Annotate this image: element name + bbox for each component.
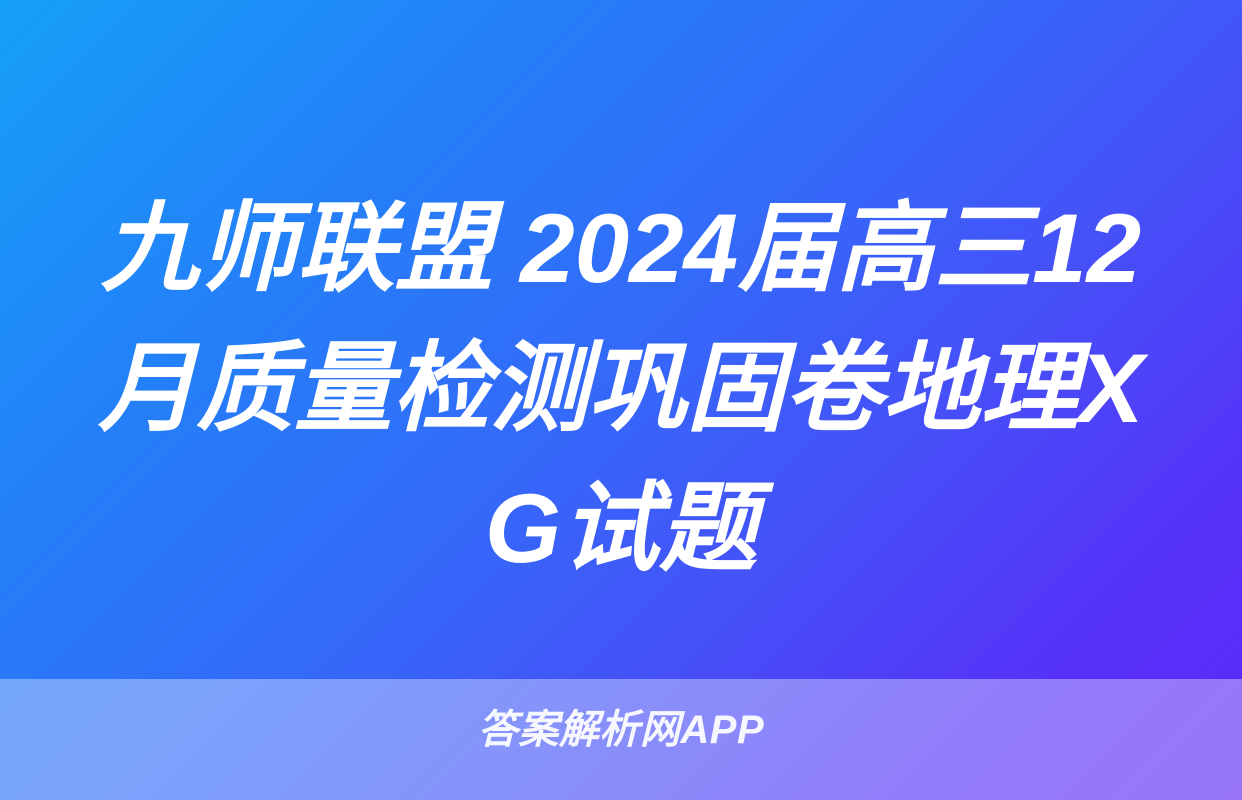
watermark-brand: 答案解析网APP <box>0 706 1242 754</box>
poster-canvas: 九师联盟 2024届高三12月质量检测巩固卷地理XG试题 答案解析网APP <box>0 0 1242 800</box>
page-title: 九师联盟 2024届高三12月质量检测巩固卷地理XG试题 <box>80 178 1162 598</box>
